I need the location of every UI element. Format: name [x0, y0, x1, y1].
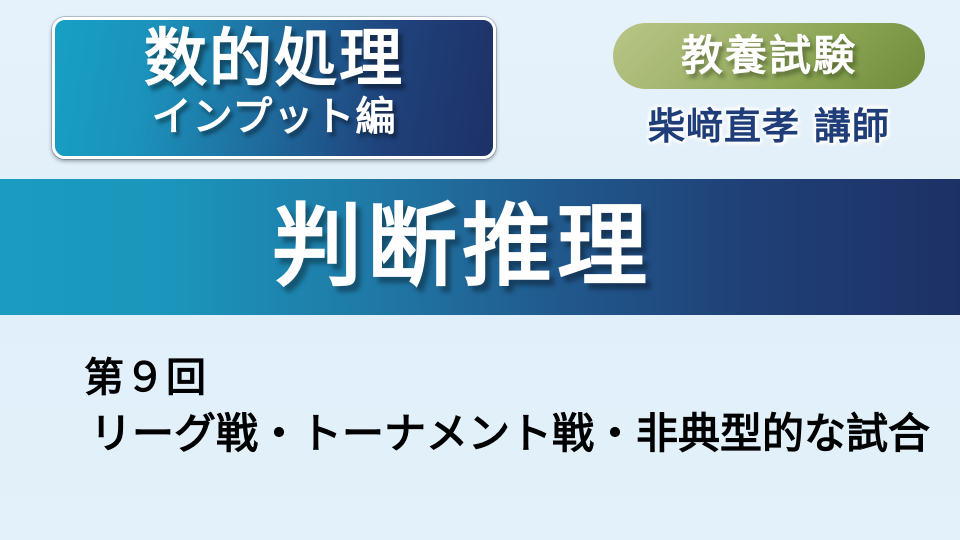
subject-banner: 判断推理: [0, 179, 960, 315]
subject-title: 判断推理: [272, 192, 652, 302]
instructor-name: 柴﨑直孝 講師: [613, 103, 925, 151]
lesson-number: 第９回: [84, 352, 934, 404]
course-badge-title: 数的処理: [144, 22, 404, 96]
lesson-info: 第９回 リーグ戦・トーナメント戦・非典型的な試合: [84, 352, 934, 462]
exam-type-badge: 教養試験: [613, 23, 925, 89]
course-badge: 数的処理 インプット編: [52, 17, 496, 159]
lesson-topic: リーグ戦・トーナメント戦・非典型的な試合: [90, 406, 934, 462]
exam-type-label: 教養試験: [681, 33, 857, 79]
course-badge-subtitle: インプット編: [152, 92, 397, 142]
slide-root: 数的処理 インプット編 教養試験 柴﨑直孝 講師 判断推理 第９回 リーグ戦・ト…: [0, 0, 960, 540]
